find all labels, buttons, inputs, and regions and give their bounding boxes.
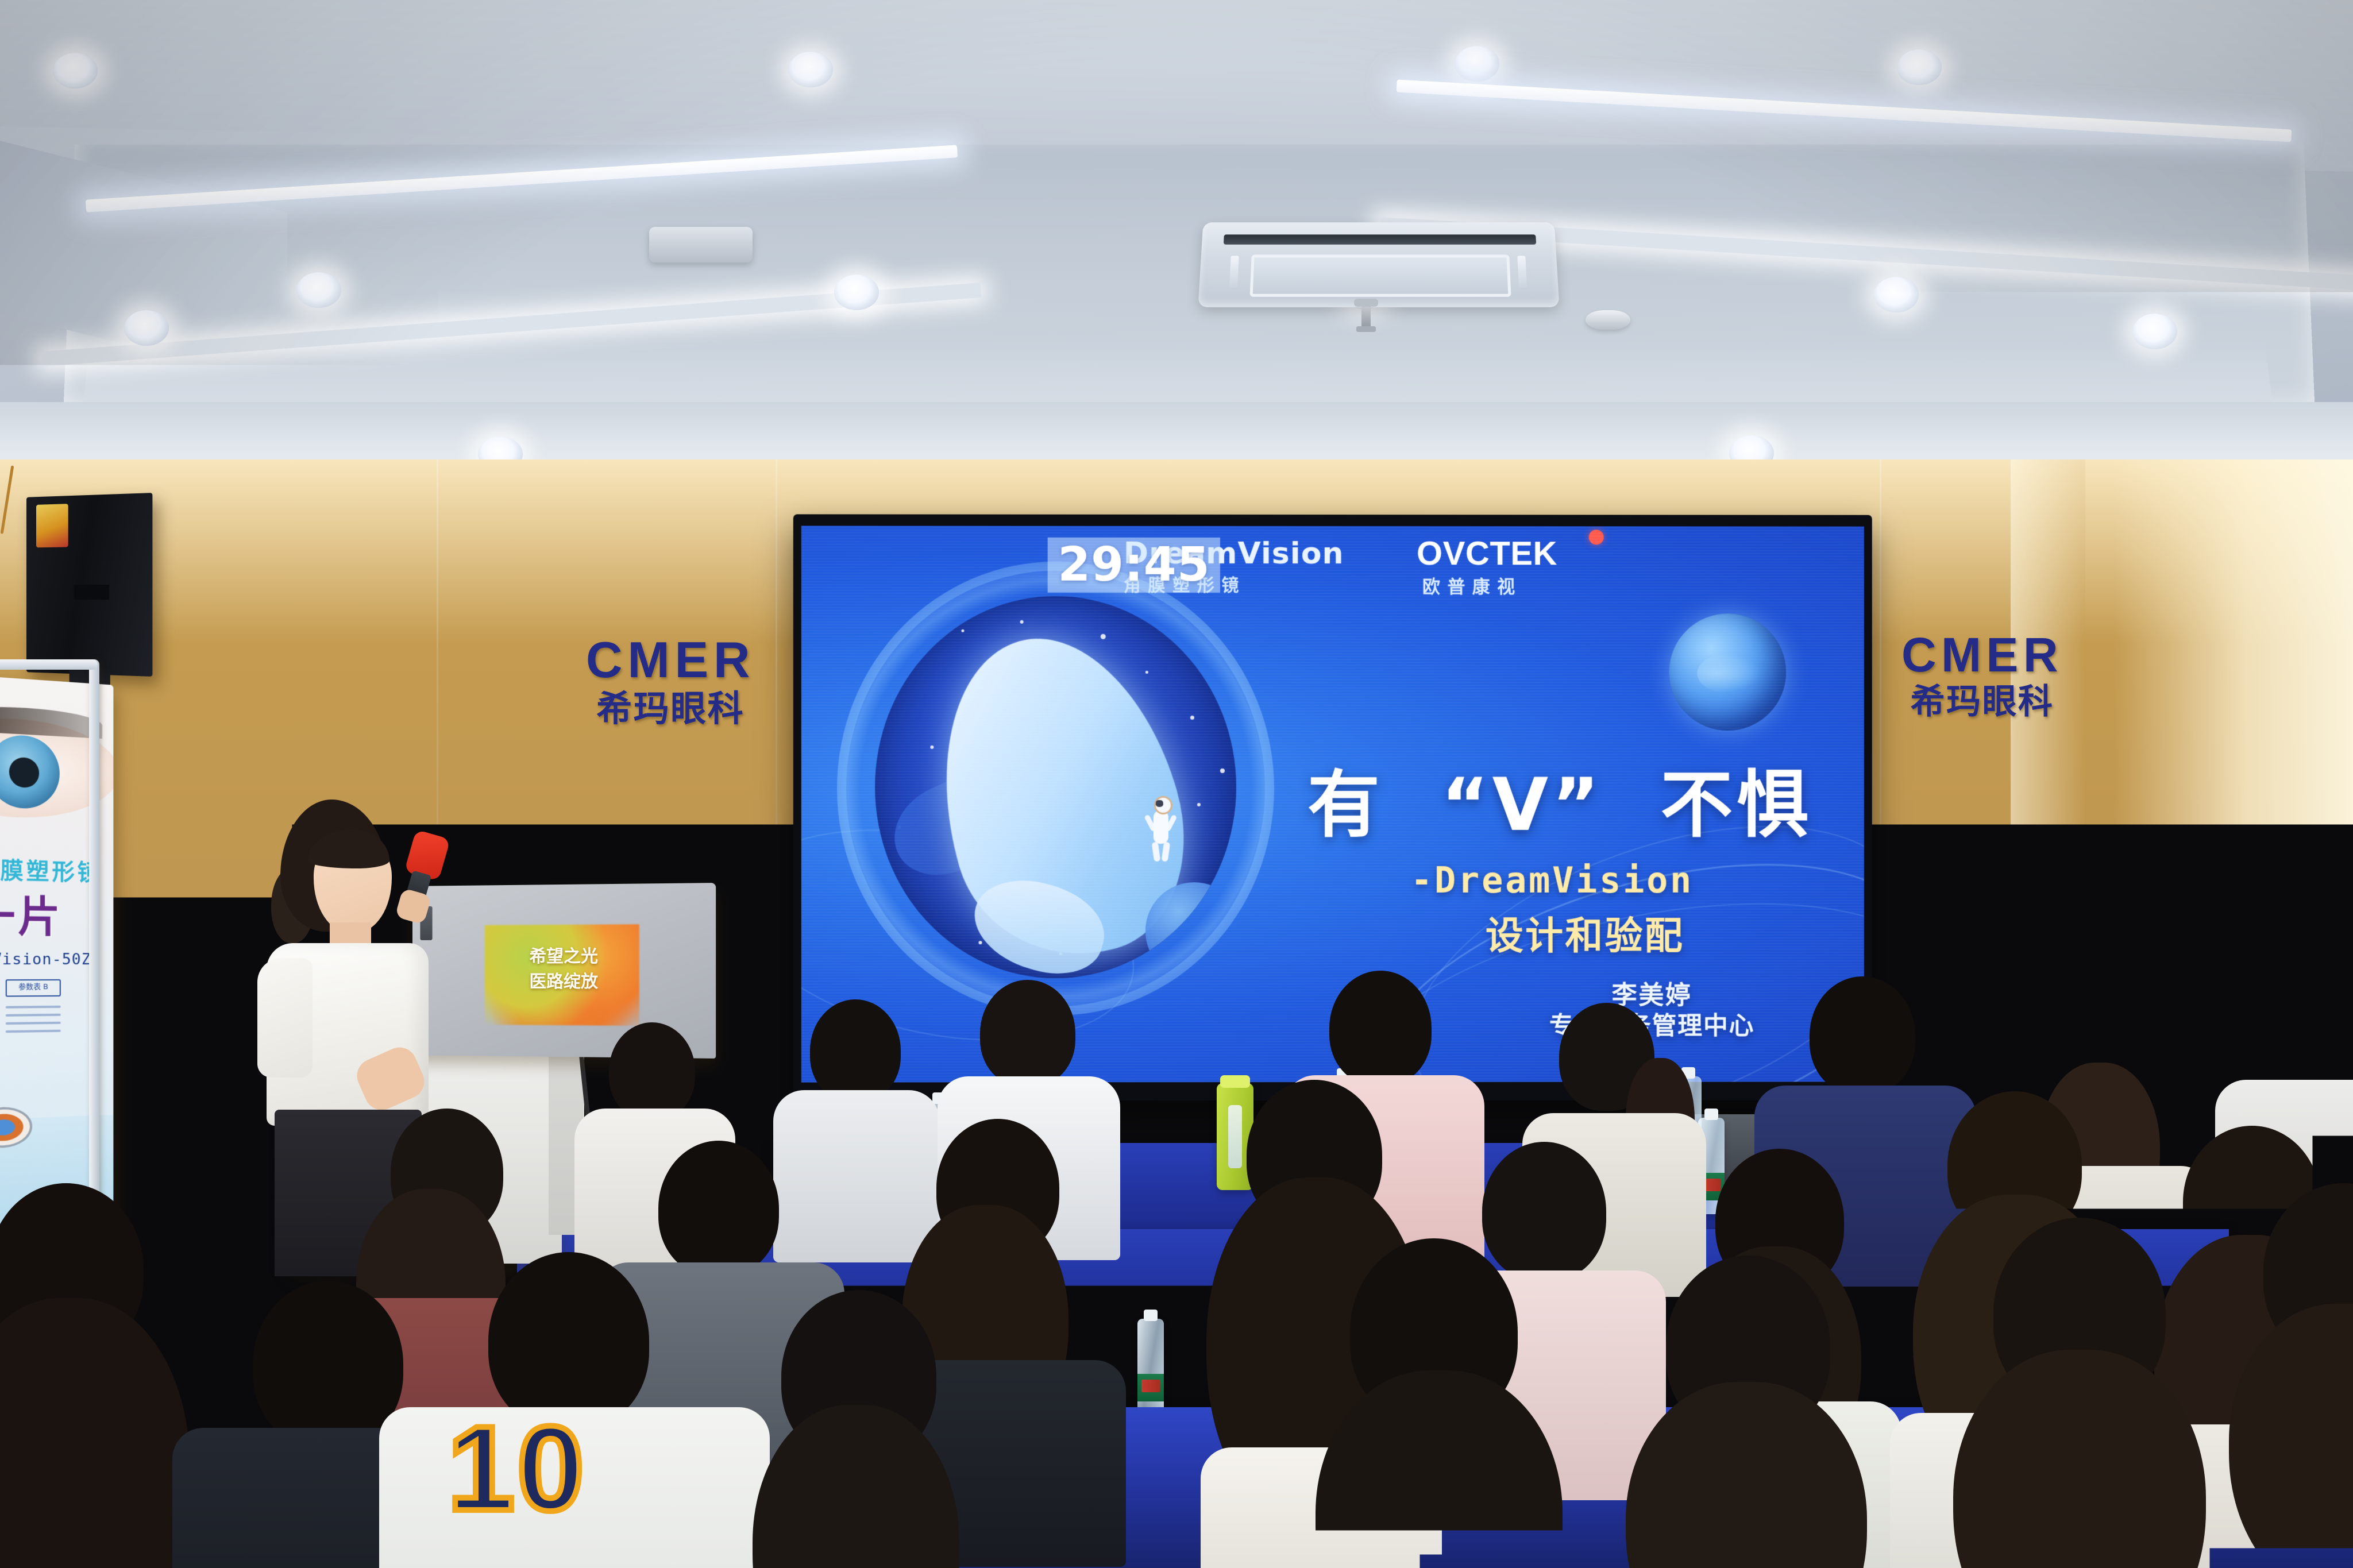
- ceiling-speaker-icon: [649, 227, 753, 262]
- downlight-icon: [788, 52, 833, 87]
- downlight-icon: [1455, 46, 1499, 82]
- cmer-wordmark: CMER: [586, 635, 755, 685]
- astronaut-suit: [1154, 810, 1168, 844]
- speaker-brand-logo: [74, 585, 109, 600]
- wall-speaker: [26, 493, 152, 677]
- slide-presenter-block: 李美婷 专业事务管理中心: [1451, 980, 1853, 1042]
- downlight-icon: [1897, 49, 1942, 85]
- astronaut-figure: [1149, 796, 1173, 860]
- ac-slot: [1224, 234, 1536, 244]
- laptop-sticker-line1: 希望之光: [500, 944, 627, 970]
- ceiling: [0, 0, 2353, 477]
- audience-head: [1810, 976, 1915, 1095]
- audience-head: [658, 1141, 779, 1276]
- smoke-detector-icon: [1586, 310, 1630, 330]
- astronaut-leg: [1162, 841, 1171, 862]
- screenshot-root: CMER 希玛眼科 CMER 希玛眼科 角膜塑形镜 眼一片 DreamVisio…: [0, 0, 2353, 1568]
- cmer-logo-left: CMER 希玛眼科: [586, 635, 755, 727]
- audience-head: [609, 1022, 695, 1120]
- slide-title: 有 “V” 不惧: [1307, 767, 1847, 843]
- downlight-icon: [124, 310, 169, 346]
- poster-spec-rows-right: [6, 1000, 61, 1038]
- audience-head: [1482, 1142, 1606, 1281]
- presenter-name: 李美婷: [1451, 980, 1853, 1011]
- astronaut-leg: [1152, 841, 1161, 862]
- countdown-timer-overlay: 29:45: [1048, 538, 1220, 593]
- slide-subtitle-zh: 设计和验配: [1486, 905, 1864, 960]
- ovctek-wordmark: OVCTEK: [1417, 534, 1557, 573]
- air-conditioner-vent: [1198, 222, 1559, 307]
- ac-fin: [1229, 256, 1239, 287]
- audience-hair: [0, 1298, 190, 1568]
- ac-grille: [1250, 254, 1511, 296]
- slide-brand-bar: DreamVision 角膜塑形镜 OVCTEK 欧普康视 29:45: [801, 526, 1864, 595]
- cmer-logo-right: CMER 希玛眼科: [1901, 631, 2063, 719]
- poster-stand-rail-top: [0, 659, 98, 670]
- poster-model-text: DreamVision-50Z: [0, 950, 102, 968]
- presenter-org: 专业事务管理中心: [1451, 1011, 1853, 1042]
- ovctek-chinese: 欧普康视: [1422, 572, 1522, 598]
- jersey-number: 10: [396, 1399, 638, 1538]
- laptop-sticker-line2: 医路绽放: [500, 969, 627, 994]
- audience-head: [1329, 971, 1432, 1086]
- medallion-starfield: [875, 596, 1236, 979]
- audience-shoulders: [773, 1090, 940, 1262]
- slide-planet-graphic: [1669, 613, 1787, 731]
- speaker-badge-icon: [36, 504, 68, 547]
- downlight-icon: [53, 53, 98, 88]
- ac-fin: [1517, 256, 1527, 287]
- audience-head: [980, 980, 1075, 1087]
- downlight-icon: [296, 272, 341, 308]
- downlight-icon: [834, 275, 879, 310]
- medallion-planet: [1145, 882, 1236, 978]
- ceiling-band: [82, 342, 2274, 411]
- whale-medallion-artwork: [837, 562, 1274, 1016]
- cmer-wordmark: CMER: [1901, 631, 2063, 679]
- ovctek-accent-dot-icon: [1589, 530, 1604, 544]
- cmer-chinese-name: 希玛眼科: [586, 691, 755, 727]
- countdown-timer-value: 29:45: [1058, 542, 1210, 589]
- laptop-sticker-text: 希望之光 医路绽放: [500, 944, 627, 1000]
- presentation-screen: DreamVision 角膜塑形镜 OVCTEK 欧普康视 29:45 有 “V…: [801, 526, 1864, 1082]
- audience-head: [810, 999, 901, 1102]
- slide-subtitle-en: -DreamVision: [1411, 859, 1847, 901]
- presenter-sleeve: [257, 958, 313, 1077]
- eyelash-icon: [0, 703, 102, 739]
- downlight-icon: [2132, 314, 2177, 349]
- sprinkler-head-icon: [1361, 304, 1371, 331]
- downlight-icon: [1874, 277, 1919, 312]
- cmer-chinese-name: 希玛眼科: [1901, 685, 2063, 719]
- audience-head: [253, 1281, 403, 1447]
- astronaut-visor: [1156, 800, 1163, 807]
- poster-spec-box-right: 参数表 B: [6, 979, 61, 997]
